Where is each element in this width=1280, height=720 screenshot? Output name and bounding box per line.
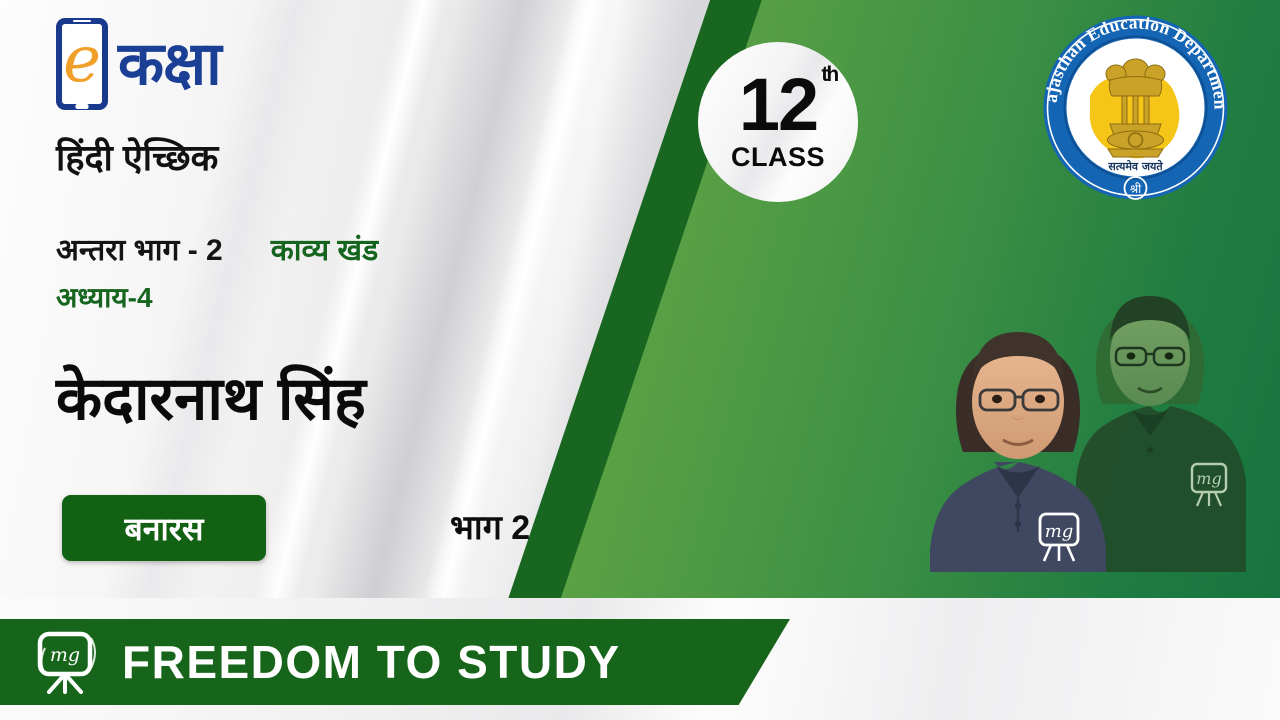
- svg-text:mg: mg: [1045, 521, 1074, 542]
- ekaksha-logo: e कक्षा: [56, 18, 221, 110]
- section-name: काव्य खंड: [271, 228, 378, 269]
- poem-title-badge: बनारस: [62, 495, 266, 561]
- class-number-wrap: 12 th: [739, 71, 817, 139]
- class-number-suffix: th: [821, 65, 837, 84]
- footer-tagline: FREEDOM TO STUDY: [122, 635, 621, 689]
- poet-name: केदारनाथ सिंह: [56, 355, 366, 437]
- dept-motto: सत्यमेव जयते: [1107, 159, 1163, 173]
- logo-wordmark: कक्षा: [118, 34, 221, 94]
- book-row: अन्तरा भाग - 2 काव्य खंड: [56, 228, 378, 269]
- class-badge: 12 th CLASS: [698, 42, 858, 202]
- mg-easel-icon: mg: [34, 630, 102, 694]
- logo-letter-e: e: [63, 35, 101, 86]
- instructor-photos: mg: [900, 238, 1280, 600]
- svg-text:mg: mg: [50, 644, 80, 666]
- instructor-photo-group: mg: [900, 238, 1280, 600]
- shirt-mg-logo: mg: [1040, 514, 1078, 561]
- thumbnail-canvas: mg: [0, 0, 1280, 720]
- footer: mg FREEDOM TO STUDY: [0, 598, 1280, 720]
- book-name: अन्तरा भाग - 2: [56, 228, 223, 269]
- phone-tablet-icon: e: [56, 18, 108, 110]
- subject-title: हिंदी ऐच्छिक: [56, 132, 218, 181]
- freedom-to-study-banner: mg FREEDOM TO STUDY: [0, 619, 790, 705]
- svg-text:mg: mg: [1196, 469, 1221, 488]
- class-number: 12: [739, 63, 817, 146]
- chapter-number: अध्याय-4: [56, 278, 153, 316]
- instructor-front: mg: [930, 332, 1106, 572]
- part-label: भाग 2: [450, 503, 530, 549]
- rajasthan-education-department-logo: Rajasthan Education Department सत्यमेव ज…: [1038, 10, 1233, 205]
- svg-text:श्री: श्री: [1130, 182, 1142, 196]
